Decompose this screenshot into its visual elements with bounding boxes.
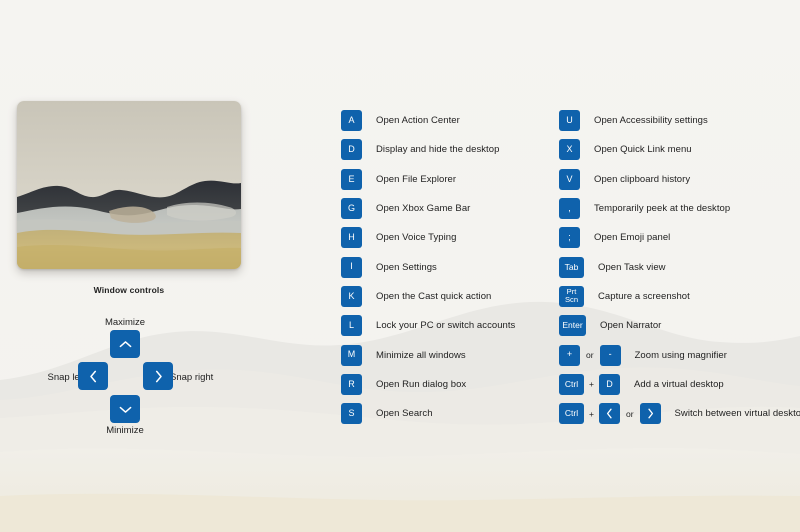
shortcut-row: PrtScnCapture a screenshot bbox=[559, 282, 799, 311]
shortcut-row: VOpen clipboard history bbox=[559, 165, 799, 194]
window-controls-diagram: Maximize Minimize Snap left Snap right bbox=[30, 312, 260, 437]
shortcut-description: Temporarily peek at the desktop bbox=[594, 203, 730, 214]
arrow-key-right[interactable] bbox=[143, 362, 173, 390]
shortcut-description: Open Accessibility settings bbox=[594, 115, 708, 126]
shortcut-description: Open Run dialog box bbox=[376, 379, 466, 390]
shortcut-description: Open Voice Typing bbox=[376, 232, 456, 243]
shortcut-description: Lock your PC or switch accounts bbox=[376, 320, 515, 331]
key-cap-chevron-left[interactable] bbox=[599, 403, 620, 424]
arrow-key-up[interactable] bbox=[110, 330, 140, 358]
key-combination: M bbox=[341, 345, 362, 366]
arrow-key-left[interactable] bbox=[78, 362, 108, 390]
shortcut-description: Open the Cast quick action bbox=[376, 291, 491, 302]
key-combination: S bbox=[341, 403, 362, 424]
shortcut-row: EnterOpen Narrator bbox=[559, 311, 799, 340]
shortcut-description: Capture a screenshot bbox=[598, 291, 690, 302]
key-combination: X bbox=[559, 139, 580, 160]
key-combination: ; bbox=[559, 227, 580, 248]
key-combination: Tab bbox=[559, 257, 584, 278]
chevron-right-icon bbox=[154, 370, 163, 383]
shortcut-description: Open Search bbox=[376, 408, 433, 419]
key-joiner-or: or bbox=[580, 350, 600, 360]
shortcut-description: Minimize all windows bbox=[376, 350, 466, 361]
key-cap-a[interactable]: A bbox=[341, 110, 362, 131]
key-cap-x[interactable]: X bbox=[559, 139, 580, 160]
key-cap-e[interactable]: E bbox=[341, 169, 362, 190]
key-combination: , bbox=[559, 198, 580, 219]
shortcut-description: Open Task view bbox=[598, 262, 666, 273]
key-combination: +or- bbox=[559, 345, 621, 366]
shortcut-description: Open File Explorer bbox=[376, 174, 456, 185]
shortcut-description: Open Quick Link menu bbox=[594, 144, 692, 155]
shortcut-row: HOpen Voice Typing bbox=[341, 223, 551, 252]
key-combination: Ctrl+D bbox=[559, 374, 620, 395]
arrow-key-down[interactable] bbox=[110, 395, 140, 423]
shortcut-row: +or-Zoom using magnifier bbox=[559, 340, 799, 369]
shortcut-row: UOpen Accessibility settings bbox=[559, 106, 799, 135]
shortcut-row: LLock your PC or switch accounts bbox=[341, 311, 551, 340]
key-cap-tab[interactable]: Tab bbox=[559, 257, 584, 278]
key-cap-semicolon[interactable]: ; bbox=[559, 227, 580, 248]
key-joiner-plus: + bbox=[584, 379, 599, 389]
key-joiner-or: or bbox=[620, 409, 640, 419]
shortcut-description: Switch between virtual desktops bbox=[675, 408, 800, 419]
shortcut-row: IOpen Settings bbox=[341, 252, 551, 281]
key-combination: D bbox=[341, 139, 362, 160]
key-combination: A bbox=[341, 110, 362, 131]
chevron-up-icon bbox=[119, 340, 132, 349]
shortcut-row: ;Open Emoji panel bbox=[559, 223, 799, 252]
shortcut-row: AOpen Action Center bbox=[341, 106, 551, 135]
window-control-label-maximize: Maximize bbox=[95, 317, 155, 328]
shortcut-description: Open Xbox Game Bar bbox=[376, 203, 470, 214]
shortcut-row: ,Temporarily peek at the desktop bbox=[559, 194, 799, 223]
key-cap-l[interactable]: L bbox=[341, 315, 362, 336]
shortcut-row: Ctrl+orSwitch between virtual desktops bbox=[559, 399, 799, 428]
shortcut-description: Open Action Center bbox=[376, 115, 460, 126]
shortcut-row: Ctrl+DAdd a virtual desktop bbox=[559, 370, 799, 399]
key-combination: Enter bbox=[559, 315, 586, 336]
key-combination: I bbox=[341, 257, 362, 278]
window-controls-caption: Window controls bbox=[0, 285, 258, 295]
shortcut-row: MMinimize all windows bbox=[341, 340, 551, 369]
key-combination: K bbox=[341, 286, 362, 307]
key-joiner-plus: + bbox=[584, 409, 599, 419]
shortcut-row: GOpen Xbox Game Bar bbox=[341, 194, 551, 223]
shortcut-description: Open Emoji panel bbox=[594, 232, 670, 243]
key-combination: Ctrl+or bbox=[559, 403, 661, 424]
key-combination: H bbox=[341, 227, 362, 248]
shortcut-row: TabOpen Task view bbox=[559, 252, 799, 281]
key-combination: G bbox=[341, 198, 362, 219]
key-combination: R bbox=[341, 374, 362, 395]
shortcut-row: KOpen the Cast quick action bbox=[341, 282, 551, 311]
shortcut-description: Zoom using magnifier bbox=[635, 350, 727, 361]
shortcut-list-left: AOpen Action CenterDDisplay and hide the… bbox=[341, 106, 551, 428]
shortcut-description: Open clipboard history bbox=[594, 174, 690, 185]
key-combination: U bbox=[559, 110, 580, 131]
key-cap-s[interactable]: S bbox=[341, 403, 362, 424]
key-cap-prt-scn[interactable]: PrtScn bbox=[559, 286, 584, 307]
key-cap-u[interactable]: U bbox=[559, 110, 580, 131]
shortcut-description: Open Settings bbox=[376, 262, 437, 273]
chevron-right-icon bbox=[647, 408, 654, 419]
key-cap-line: Scn bbox=[565, 296, 578, 304]
key-cap-k[interactable]: K bbox=[341, 286, 362, 307]
shortcut-row: DDisplay and hide the desktop bbox=[341, 135, 551, 164]
shortcut-row: EOpen File Explorer bbox=[341, 165, 551, 194]
key-cap-chevron-right[interactable] bbox=[640, 403, 661, 424]
key-cap-h[interactable]: H bbox=[341, 227, 362, 248]
key-cap-d[interactable]: D bbox=[599, 374, 620, 395]
key-cap-i[interactable]: I bbox=[341, 257, 362, 278]
chevron-left-icon bbox=[606, 408, 613, 419]
shortcut-description: Display and hide the desktop bbox=[376, 144, 499, 155]
window-controls-panel: Window controls Maximize Minimize Snap l… bbox=[0, 0, 300, 532]
key-cap-enter[interactable]: Enter bbox=[559, 315, 586, 336]
shortcut-description: Open Narrator bbox=[600, 320, 661, 331]
key-cap-ctrl[interactable]: Ctrl bbox=[559, 374, 584, 395]
key-cap-plus[interactable]: + bbox=[559, 345, 580, 366]
key-cap-g[interactable]: G bbox=[341, 198, 362, 219]
window-control-label-snap-right: Snap right bbox=[170, 372, 244, 383]
chevron-left-icon bbox=[89, 370, 98, 383]
key-combination: L bbox=[341, 315, 362, 336]
shortcut-list-right: UOpen Accessibility settingsXOpen Quick … bbox=[559, 106, 799, 428]
chevron-down-icon bbox=[119, 405, 132, 414]
key-combination: E bbox=[341, 169, 362, 190]
key-combination: V bbox=[559, 169, 580, 190]
shortcut-row: ROpen Run dialog box bbox=[341, 370, 551, 399]
desktop-wallpaper-preview bbox=[17, 101, 241, 269]
key-cap-comma[interactable]: , bbox=[559, 198, 580, 219]
key-cap-m[interactable]: M bbox=[341, 345, 362, 366]
shortcut-row: XOpen Quick Link menu bbox=[559, 135, 799, 164]
key-combination: PrtScn bbox=[559, 286, 584, 307]
key-cap-r[interactable]: R bbox=[341, 374, 362, 395]
key-cap-d[interactable]: D bbox=[341, 139, 362, 160]
key-cap-v[interactable]: V bbox=[559, 169, 580, 190]
window-control-label-minimize: Minimize bbox=[95, 425, 155, 436]
shortcut-row: SOpen Search bbox=[341, 399, 551, 428]
window-control-label-snap-left: Snap left bbox=[11, 372, 85, 383]
key-cap-ctrl[interactable]: Ctrl bbox=[559, 403, 584, 424]
key-cap-minus[interactable]: - bbox=[600, 345, 621, 366]
shortcut-description: Add a virtual desktop bbox=[634, 379, 724, 390]
